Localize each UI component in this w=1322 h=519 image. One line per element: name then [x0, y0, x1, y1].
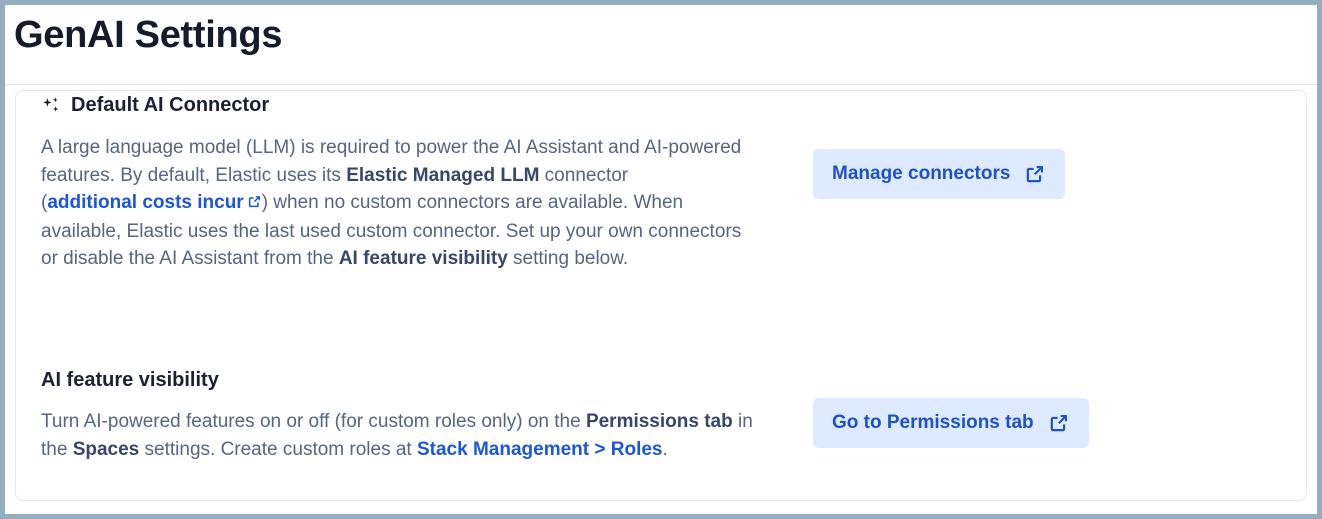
- page-header: GenAI Settings: [5, 5, 1317, 85]
- default-connector-description: A large language model (LLM) is required…: [41, 134, 753, 273]
- manage-connectors-button[interactable]: Manage connectors: [813, 149, 1065, 199]
- feature-visibility-description: Turn AI-powered features on or off (for …: [41, 408, 771, 463]
- manage-connectors-button-label: Manage connectors: [832, 163, 1010, 185]
- page-content: GenAI Settings Default AI Con: [5, 5, 1317, 514]
- description-strong-ai-feature-visibility: AI feature visibility: [339, 248, 508, 269]
- additional-costs-incur-link[interactable]: additional costs incur: [47, 192, 261, 213]
- go-to-permissions-tab-button-label: Go to Permissions tab: [832, 412, 1034, 434]
- section-heading-default-connector: Default AI Connector: [41, 91, 771, 119]
- description-text-part: settings. Create custom roles at: [139, 439, 417, 460]
- description-text-part: setting below.: [508, 248, 628, 269]
- section-heading-label: Default AI Connector: [71, 91, 269, 119]
- additional-costs-incur-link-label: additional costs incur: [47, 192, 243, 213]
- section-feature-visibility-body: AI feature visibility Turn AI-powered fe…: [41, 366, 771, 463]
- description-strong-permissions-tab: Permissions tab: [586, 411, 733, 432]
- page-frame: GenAI Settings Default AI Con: [0, 0, 1322, 519]
- settings-panel: Default AI Connector A large language mo…: [15, 90, 1307, 501]
- external-link-icon: [1048, 412, 1070, 434]
- description-strong-spaces: Spaces: [73, 439, 140, 460]
- description-strong-elastic-managed-llm: Elastic Managed LLM: [346, 165, 539, 186]
- description-text-part: Turn AI-powered features on or off (for …: [41, 411, 586, 432]
- sparkles-icon: [41, 96, 62, 117]
- description-text-part: .: [663, 439, 668, 460]
- go-to-permissions-tab-button[interactable]: Go to Permissions tab: [813, 398, 1089, 448]
- stack-management-roles-link[interactable]: Stack Management > Roles: [417, 439, 663, 460]
- section-heading-feature-visibility: AI feature visibility: [41, 366, 771, 394]
- section-default-connector-body: Default AI Connector A large language mo…: [41, 91, 771, 273]
- section-heading-label: AI feature visibility: [41, 366, 219, 394]
- page-title: GenAI Settings: [14, 9, 282, 61]
- external-link-icon: [247, 190, 262, 218]
- external-link-icon: [1024, 163, 1046, 185]
